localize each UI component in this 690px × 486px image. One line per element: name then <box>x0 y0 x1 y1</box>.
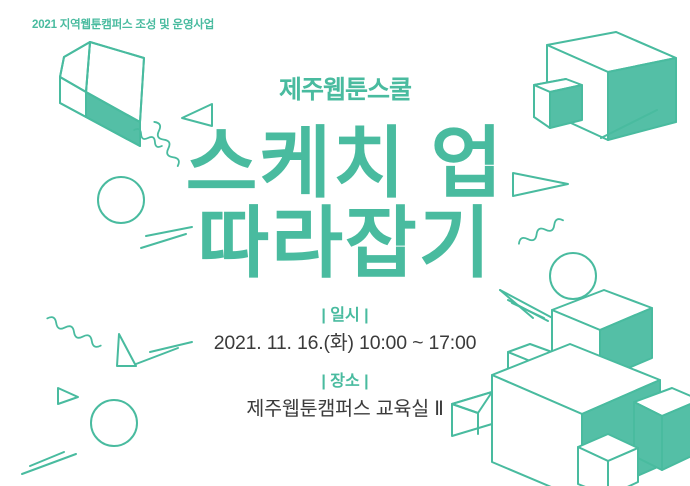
place-value: 제주웹툰캠퍼스 교육실 Ⅱ <box>0 400 690 420</box>
program-eyebrow-text: 2021 지역웹툰캠퍼스 조성 및 운영사업 <box>32 16 214 32</box>
date-value: 2021. 11. 16.(화) 10:00 ~ 17:00 <box>0 334 690 354</box>
place-label: | 장소 | <box>0 374 690 390</box>
poster-content: 2021 지역웹툰캠퍼스 조성 및 운영사업 제주웹툰스쿨 스케치 업 따라잡기… <box>0 0 690 486</box>
date-label: | 일시 | <box>0 308 690 324</box>
poster-headline-line-2: 따라잡기 <box>0 204 690 282</box>
poster-headline-line-1: 스케치 업 <box>0 124 690 202</box>
poster-subtitle: 제주웹툰스쿨 <box>0 78 690 103</box>
poster-canvas: 2021 지역웹툰캠퍼스 조성 및 운영사업 제주웹툰스쿨 스케치 업 따라잡기… <box>0 0 690 486</box>
